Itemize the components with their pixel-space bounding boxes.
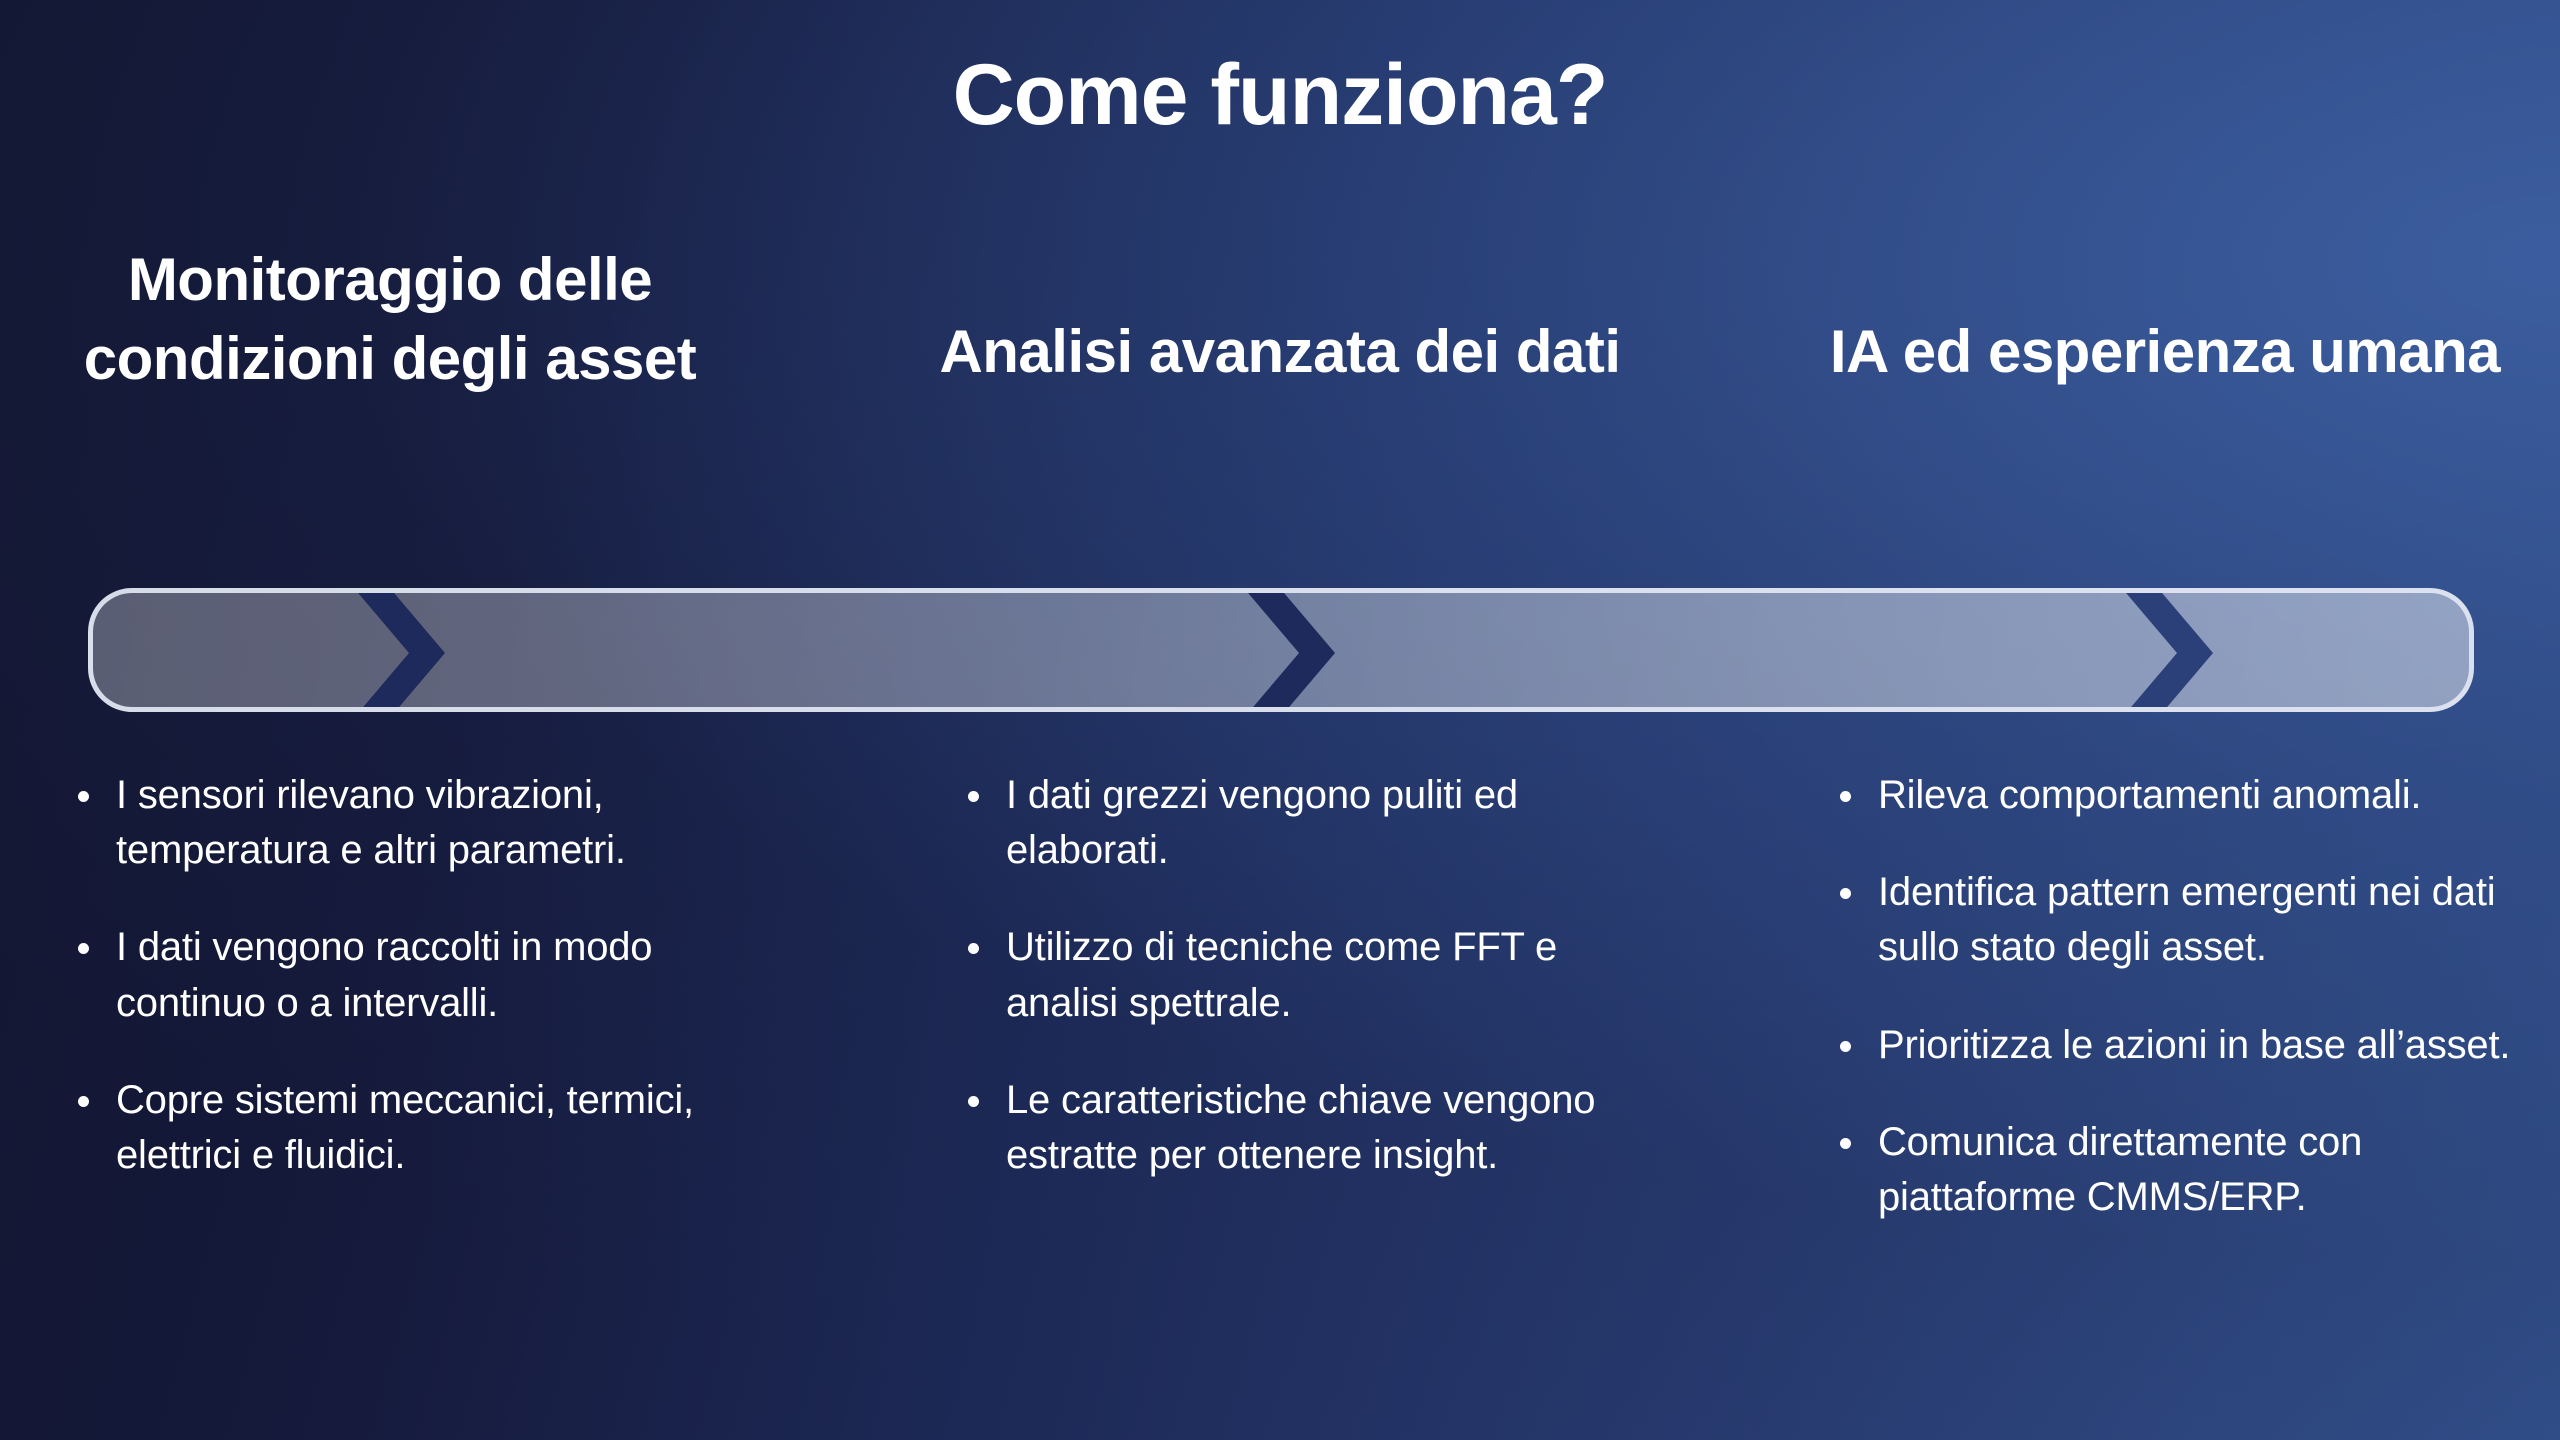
bullet-column-monitoraggio: I sensori rilevano vibrazioni, temperatu… — [78, 768, 778, 1225]
list-item: Identifica pattern emergenti nei dati su… — [1840, 865, 2540, 975]
list-item: I dati vengono raccolti in modo continuo… — [78, 920, 778, 1030]
list-item-text: I sensori rilevano vibrazioni, temperatu… — [116, 768, 778, 878]
bullet-dot-icon — [968, 791, 979, 802]
list-item-text: I dati grezzi vengono puliti ed elaborat… — [1006, 768, 1668, 878]
list-item: Comunica direttamente con piattaforme CM… — [1840, 1115, 2540, 1225]
list-item-text: Rileva comportamenti anomali. — [1878, 768, 2421, 823]
bullet-dot-icon — [1840, 888, 1851, 899]
bullet-dot-icon — [1840, 791, 1851, 802]
list-item-text: Prioritizza le azioni in base all’asset. — [1878, 1018, 2510, 1073]
list-item-text: Le caratteristiche chiave vengono estrat… — [1006, 1073, 1668, 1183]
chevron-right-icon — [2113, 588, 2221, 712]
bullet-column-ia: Rileva comportamenti anomali. Identifica… — [1840, 768, 2540, 1267]
column-heading-ia: IA ed esperienza umana — [1820, 312, 2510, 391]
bullet-dot-icon — [968, 943, 979, 954]
slide: Come funziona? Monitoraggio delle condiz… — [0, 0, 2560, 1440]
column-headings: Monitoraggio delle condizioni degli asse… — [0, 240, 2560, 540]
bullet-dot-icon — [78, 1096, 89, 1107]
column-heading-analisi: Analisi avanzata dei dati — [930, 312, 1630, 391]
column-heading-monitoraggio: Monitoraggio delle condizioni degli asse… — [60, 240, 720, 398]
list-item: Rileva comportamenti anomali. — [1840, 768, 2540, 823]
list-item: I sensori rilevano vibrazioni, temperatu… — [78, 768, 778, 878]
list-item-text: I dati vengono raccolti in modo continuo… — [116, 920, 778, 1030]
list-item-text: Comunica direttamente con piattaforme CM… — [1878, 1115, 2540, 1225]
bullet-dot-icon — [1840, 1041, 1851, 1052]
bullet-dot-icon — [1840, 1138, 1851, 1149]
bullet-dot-icon — [78, 943, 89, 954]
chevron-right-icon — [1235, 588, 1343, 712]
list-item-text: Utilizzo di tecniche come FFT e analisi … — [1006, 920, 1668, 1030]
list-item: Le caratteristiche chiave vengono estrat… — [968, 1073, 1668, 1183]
bullet-dot-icon — [78, 791, 89, 802]
list-item-text: Copre sistemi meccanici, termici, elettr… — [116, 1073, 778, 1183]
bullet-columns: I sensori rilevano vibrazioni, temperatu… — [0, 768, 2560, 1388]
page-title: Come funziona? — [0, 48, 2560, 143]
bullet-dot-icon — [968, 1096, 979, 1107]
bullet-column-analisi: I dati grezzi vengono puliti ed elaborat… — [968, 768, 1668, 1225]
list-item: Utilizzo di tecniche come FFT e analisi … — [968, 920, 1668, 1030]
list-item: I dati grezzi vengono puliti ed elaborat… — [968, 768, 1668, 878]
chevron-right-icon — [345, 588, 453, 712]
list-item: Copre sistemi meccanici, termici, elettr… — [78, 1073, 778, 1183]
list-item: Prioritizza le azioni in base all’asset. — [1840, 1018, 2540, 1073]
list-item-text: Identifica pattern emergenti nei dati su… — [1878, 865, 2540, 975]
process-flow-bar — [88, 588, 2474, 712]
